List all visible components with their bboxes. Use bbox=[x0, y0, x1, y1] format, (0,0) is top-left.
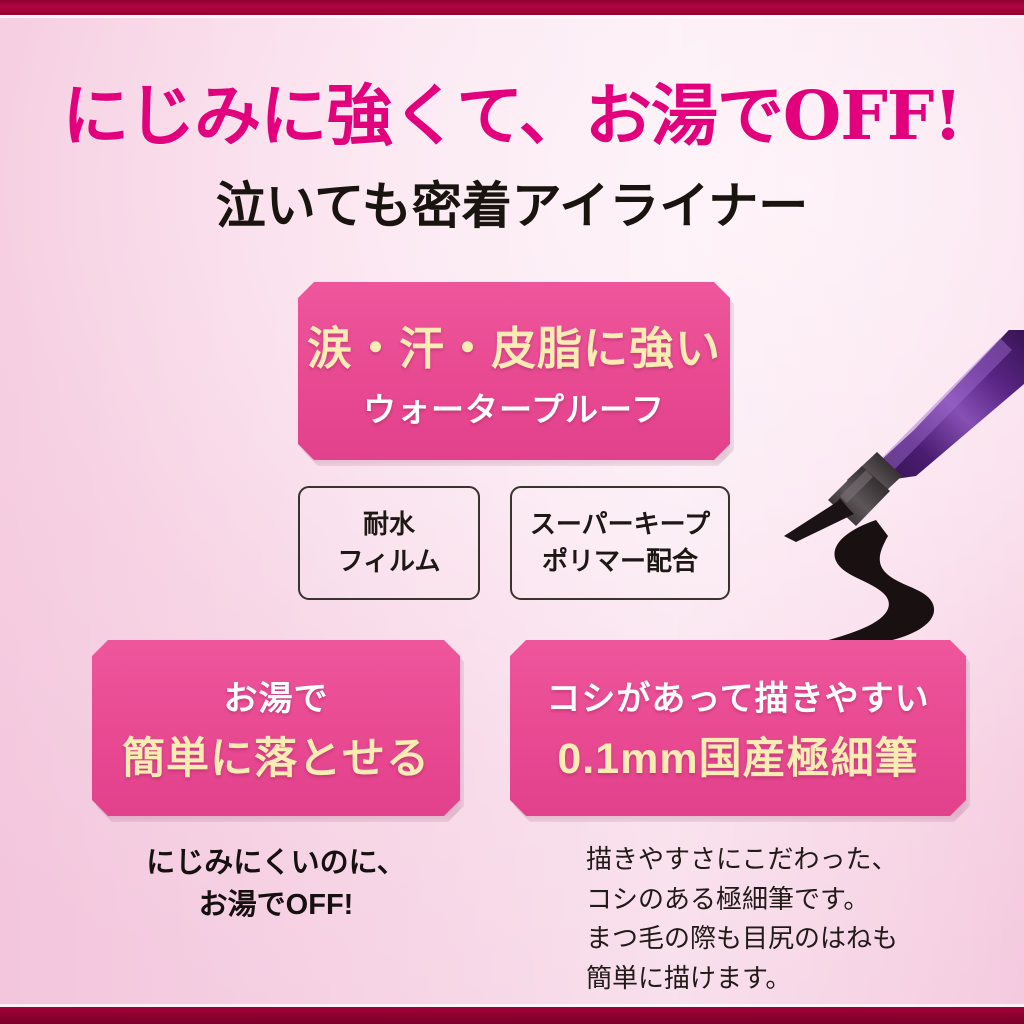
brush-caption: 描きやすさにこだわった、 コシのある極細筆です。 まつ毛の際も目尻のはねも 簡単… bbox=[586, 840, 898, 998]
waterproof-panel: 涙・汗・皮脂に強い ウォータープルーフ bbox=[298, 282, 730, 460]
brush-caption-line3: まつ毛の際も目尻のはねも bbox=[586, 919, 898, 959]
brush-caption-line2: コシのある極細筆です。 bbox=[586, 880, 898, 920]
brush-panel-line1: コシがあって描きやすい bbox=[546, 671, 929, 720]
spec-film-line2: フィルム bbox=[338, 543, 441, 580]
off-wash-panel-line1: お湯で bbox=[224, 671, 329, 720]
off-wash-panel: お湯で 簡単に落とせる bbox=[92, 640, 460, 816]
spec-film-line1: 耐水 bbox=[363, 506, 415, 543]
top-crimson-band bbox=[0, 0, 1024, 15]
brush-caption-line1: 描きやすさにこだわった、 bbox=[586, 840, 898, 880]
brush-panel-line2: 0.1mm国産極細筆 bbox=[557, 724, 918, 786]
off-wash-caption-line2: お湯でOFF! bbox=[92, 884, 460, 926]
product-feature-poster: にじみに強くて、お湯でOFF! 泣いても密着アイライナー bbox=[0, 0, 1024, 1024]
spec-poly-line2: ポリマー配合 bbox=[542, 543, 698, 580]
off-wash-caption: にじみにくいのに、 お湯でOFF! bbox=[92, 842, 460, 926]
bottom-band-hairline bbox=[0, 1004, 1024, 1007]
spec-box-super-keep-polymer: スーパーキープ ポリマー配合 bbox=[510, 486, 730, 600]
waterproof-panel-line2: ウォータープルーフ bbox=[363, 383, 665, 431]
bottom-crimson-band bbox=[0, 1007, 1024, 1024]
page-subheadline: 泣いても密着アイライナー bbox=[0, 166, 1024, 238]
brush-caption-line4: 簡単に描けます。 bbox=[586, 959, 898, 999]
off-wash-panel-line2: 簡単に落とせる bbox=[122, 724, 430, 786]
spec-box-water-resistant-film: 耐水 フィルム bbox=[298, 486, 480, 600]
brush-panel: コシがあって描きやすい 0.1mm国産極細筆 bbox=[510, 640, 966, 816]
page-headline: にじみに強くて、お湯でOFF! bbox=[0, 62, 1024, 159]
off-wash-caption-line1: にじみにくいのに、 bbox=[92, 842, 460, 884]
spec-poly-line1: スーパーキープ bbox=[530, 506, 710, 543]
top-band-hairline bbox=[0, 15, 1024, 18]
waterproof-panel-line1: 涙・汗・皮脂に強い bbox=[307, 312, 721, 377]
